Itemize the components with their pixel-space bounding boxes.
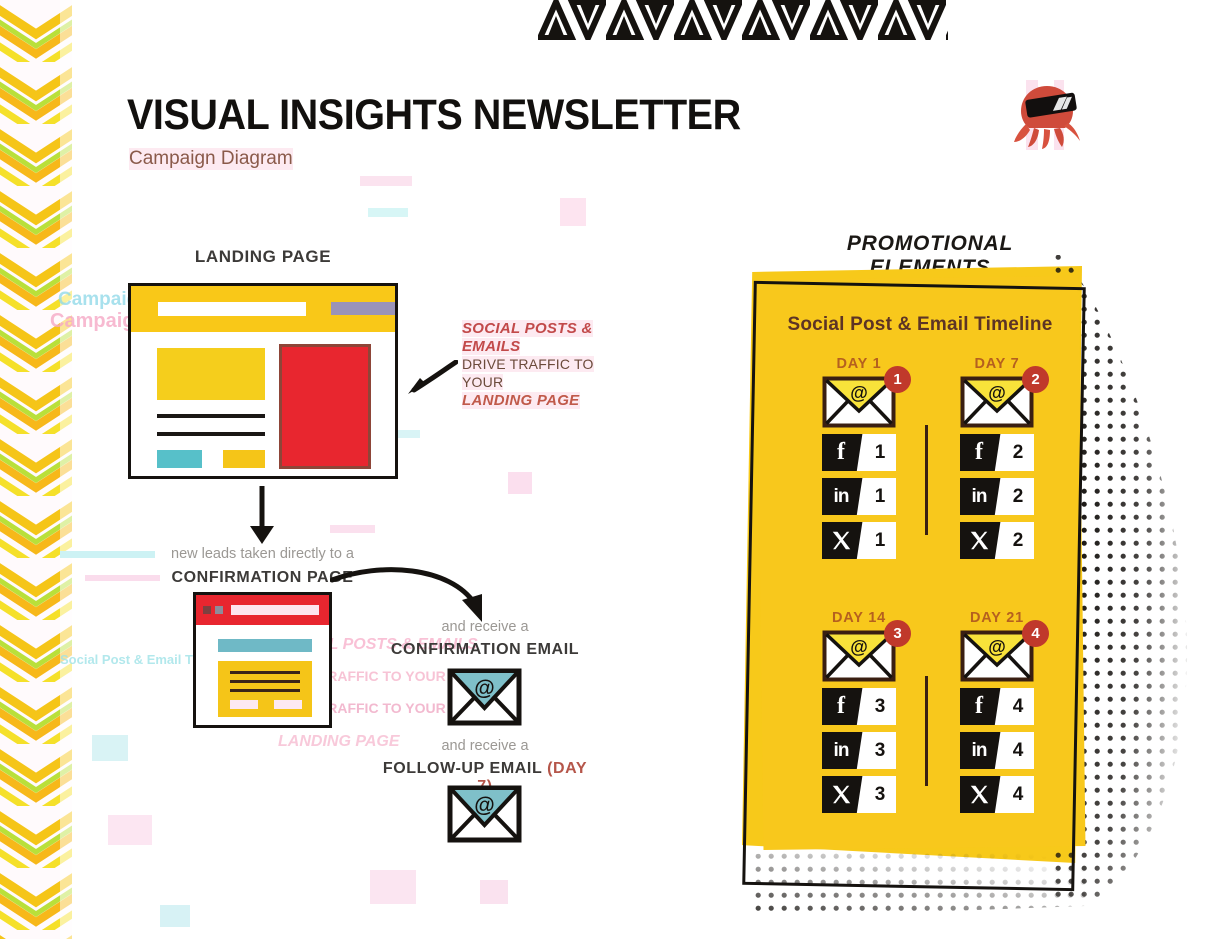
email-count-badge: 3 xyxy=(884,620,911,647)
confirmation-page-button xyxy=(230,700,258,709)
envelope-at-icon: @ xyxy=(447,785,522,843)
social-post-count: 3 xyxy=(856,776,896,813)
poster-canvas: Campaign Diagram Campaign Diagram Social… xyxy=(0,0,1208,939)
timeline-day-column: DAY 14@3f3in33 xyxy=(803,610,915,820)
confirmation-page-text-line xyxy=(230,689,300,692)
x-twitter-icon xyxy=(960,776,998,813)
landing-page-chip-yellow xyxy=(223,450,265,468)
envelope-at-icon: @ xyxy=(447,668,522,726)
social-post-row[interactable]: f3 xyxy=(822,688,896,725)
page-subtitle: Campaign Diagram xyxy=(129,148,293,170)
timeline-divider xyxy=(925,676,928,786)
landing-page-label: LANDING PAGE xyxy=(128,247,398,267)
confirmation-email-label: CONFIRMATION EMAIL xyxy=(385,641,585,659)
x-twitter-icon xyxy=(960,522,998,559)
confirmation-page-teal-bar xyxy=(218,639,312,652)
social-post-count: 1 xyxy=(856,434,896,471)
envelope-at-icon[interactable]: @3 xyxy=(822,630,896,682)
landing-page-chip-teal xyxy=(157,450,202,468)
glitch-artifact xyxy=(480,880,508,904)
social-post-count: 2 xyxy=(994,478,1034,515)
confirmation-page-card xyxy=(218,661,312,717)
confirmation-page-address-bar xyxy=(231,605,319,615)
x-twitter-icon xyxy=(822,522,860,559)
svg-text:@: @ xyxy=(988,383,1006,403)
timeline-divider xyxy=(925,425,928,535)
traffic-annotation-line-3: LANDING PAGE xyxy=(462,392,580,409)
glitch-artifact xyxy=(368,208,408,217)
traffic-annotation-line-1: SOCIAL POSTS & EMAILS xyxy=(462,320,593,355)
landing-page-header-bar xyxy=(131,286,395,332)
facebook-icon: f xyxy=(960,434,998,471)
linkedin-icon: in xyxy=(960,732,998,769)
social-post-row[interactable]: 4 xyxy=(960,776,1034,813)
glitch-artifact xyxy=(370,870,416,904)
social-post-count: 4 xyxy=(994,688,1034,725)
glitch-artifact: LANDING PAGE xyxy=(278,733,399,751)
glitch-artifact xyxy=(560,198,586,226)
page-title: VISUAL INSIGHTS NEWSLETTER xyxy=(127,94,741,137)
social-post-row[interactable]: f2 xyxy=(960,434,1034,471)
linkedin-icon: in xyxy=(822,732,860,769)
timeline-day-column: DAY 21@4f4in44 xyxy=(941,610,1053,820)
traffic-annotation-line-2: DRIVE TRAFFIC TO YOUR xyxy=(462,356,594,390)
landing-page-hero-block xyxy=(157,348,265,400)
email-count-badge: 4 xyxy=(1022,620,1049,647)
email-count-badge: 2 xyxy=(1022,366,1049,393)
confirmation-page-text-line xyxy=(230,680,300,683)
confirmation-page-button xyxy=(274,700,302,709)
landing-page-cta-button xyxy=(331,302,395,315)
social-post-count: 2 xyxy=(994,434,1034,471)
chevron-stripe-pattern-icon xyxy=(0,0,72,939)
glitch-artifact xyxy=(160,905,190,927)
social-post-count: 4 xyxy=(994,776,1034,813)
landing-page-image-block xyxy=(279,344,371,469)
social-post-count: 4 xyxy=(994,732,1034,769)
social-post-row[interactable]: in2 xyxy=(960,478,1034,515)
social-post-row[interactable]: in1 xyxy=(822,478,896,515)
glitch-artifact xyxy=(508,472,532,494)
svg-text:@: @ xyxy=(850,637,868,657)
landing-page-text-rule xyxy=(157,432,265,436)
traffic-annotation: SOCIAL POSTS & EMAILS DRIVE TRAFFIC TO Y… xyxy=(462,320,632,410)
social-post-count: 3 xyxy=(856,688,896,725)
social-post-count: 3 xyxy=(856,732,896,769)
octopus-sunglasses-logo-icon xyxy=(1008,80,1086,152)
svg-text:@: @ xyxy=(988,637,1006,657)
linkedin-icon: in xyxy=(822,478,860,515)
facebook-icon: f xyxy=(822,688,860,725)
landing-page-mockup xyxy=(128,283,398,479)
timeline-title: Social Post & Email Timeline xyxy=(765,314,1075,336)
linkedin-icon: in xyxy=(960,478,998,515)
email-count-badge: 1 xyxy=(884,366,911,393)
social-post-row[interactable]: in4 xyxy=(960,732,1034,769)
social-post-count: 1 xyxy=(856,522,896,559)
followup-email-label-text: FOLLOW-UP EMAIL xyxy=(383,760,542,777)
social-post-row[interactable]: f4 xyxy=(960,688,1034,725)
x-twitter-icon xyxy=(822,776,860,813)
social-post-row[interactable]: in3 xyxy=(822,732,896,769)
facebook-icon: f xyxy=(960,688,998,725)
social-post-row[interactable]: f1 xyxy=(822,434,896,471)
svg-text:@: @ xyxy=(850,383,868,403)
glitch-artifact xyxy=(360,176,412,186)
social-post-row[interactable]: 1 xyxy=(822,522,896,559)
left-arrow-icon xyxy=(406,360,458,396)
landing-page-text-rule xyxy=(157,414,265,418)
confirmation-page-mockup xyxy=(193,592,332,728)
followup-email-caption: and receive a xyxy=(395,738,575,754)
social-post-row[interactable]: 2 xyxy=(960,522,1034,559)
envelope-at-icon[interactable]: @4 xyxy=(960,630,1034,682)
envelope-at-icon[interactable]: @2 xyxy=(960,376,1034,428)
glitch-artifact xyxy=(330,525,375,533)
confirmation-page-text-line xyxy=(230,671,300,674)
social-post-row[interactable]: 3 xyxy=(822,776,896,813)
timeline-day-column: DAY 1@1f1in11 xyxy=(803,356,915,566)
envelope-at-icon[interactable]: @1 xyxy=(822,376,896,428)
confirmation-email-caption: and receive a xyxy=(395,619,575,635)
confirmation-page-header-bar xyxy=(196,595,329,625)
landing-page-search-field xyxy=(158,302,306,316)
social-post-count: 2 xyxy=(994,522,1034,559)
browser-dot xyxy=(203,606,211,614)
svg-text:@: @ xyxy=(474,794,494,817)
browser-dot xyxy=(215,606,223,614)
facebook-icon: f xyxy=(822,434,860,471)
svg-text:@: @ xyxy=(474,677,494,700)
timeline-day-column: DAY 7@2f2in22 xyxy=(941,356,1053,566)
triangle-zigzag-pattern-icon xyxy=(538,0,948,40)
down-arrow-icon xyxy=(240,486,284,546)
glitch-artifact xyxy=(108,815,152,845)
glitch-artifact xyxy=(92,735,128,761)
social-post-count: 1 xyxy=(856,478,896,515)
